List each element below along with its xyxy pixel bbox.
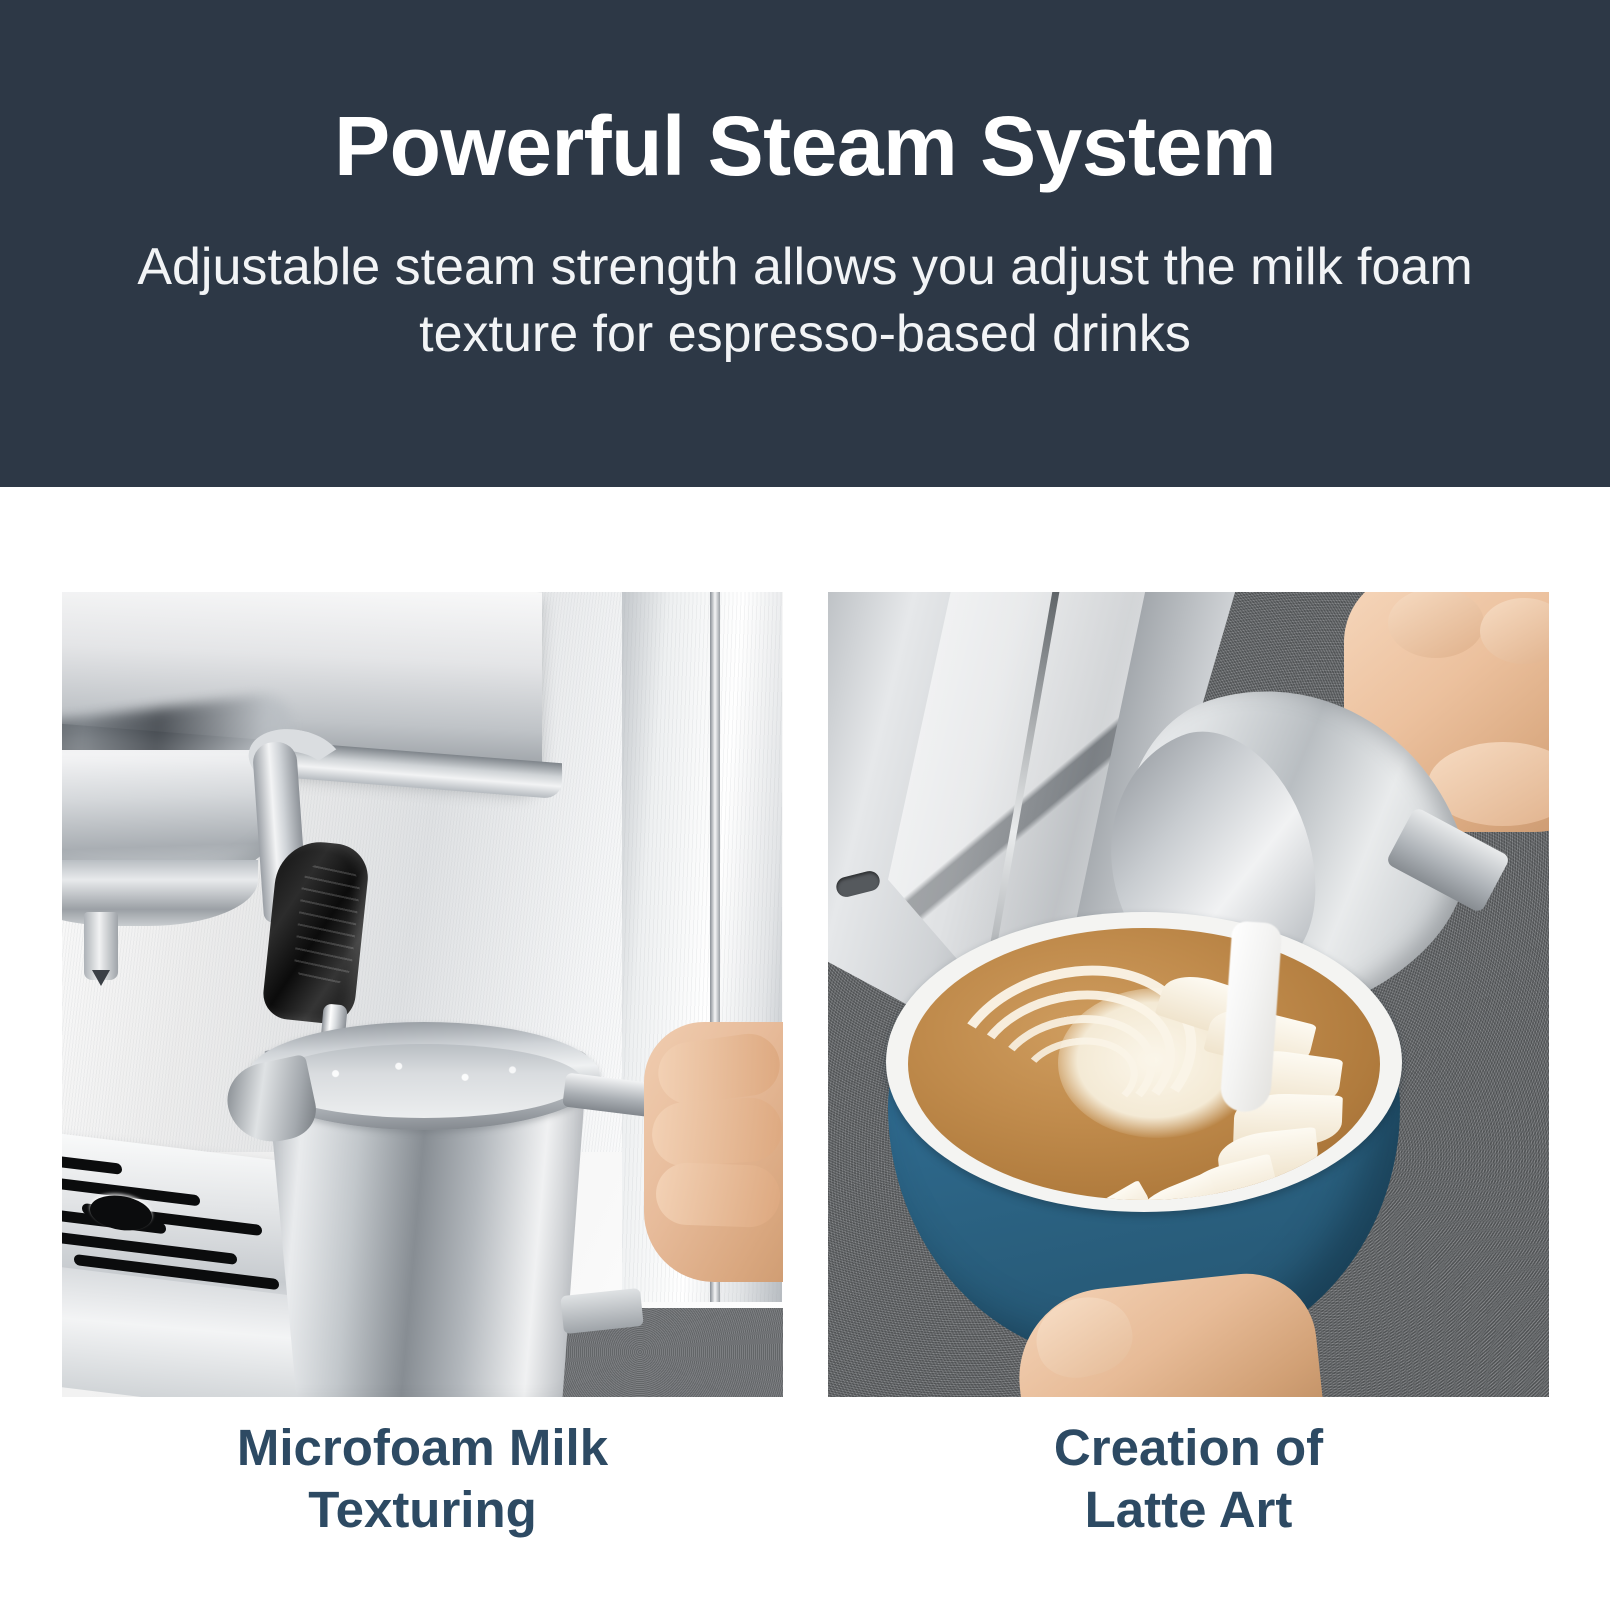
espresso-machine-photo — [62, 592, 783, 1397]
feature-panels: Microfoam Milk Texturing — [0, 487, 1610, 1610]
photo-panel-microfoam — [62, 592, 783, 1397]
caption-microfoam-line2: Texturing — [62, 1479, 783, 1541]
caption-latte-art-line2: Latte Art — [828, 1479, 1549, 1541]
caption-latte-art-line1: Creation of — [828, 1417, 1549, 1479]
crema-surface — [908, 928, 1380, 1200]
barista-finger-3 — [655, 1162, 781, 1228]
page-subtitle: Adjustable steam strength allows you adj… — [135, 234, 1475, 367]
caption-microfoam-line1: Microfoam Milk — [62, 1417, 783, 1479]
barista-finger-2 — [650, 1096, 783, 1169]
caption-latte-art: Creation of Latte Art — [828, 1417, 1549, 1541]
caption-microfoam: Microfoam Milk Texturing — [62, 1417, 783, 1541]
latte-art-photo — [828, 592, 1549, 1397]
photo-panel-latte-art — [828, 592, 1549, 1397]
portafilter-spout — [84, 912, 118, 980]
header-banner: Powerful Steam System Adjustable steam s… — [0, 0, 1610, 487]
page-title: Powerful Steam System — [334, 104, 1276, 188]
